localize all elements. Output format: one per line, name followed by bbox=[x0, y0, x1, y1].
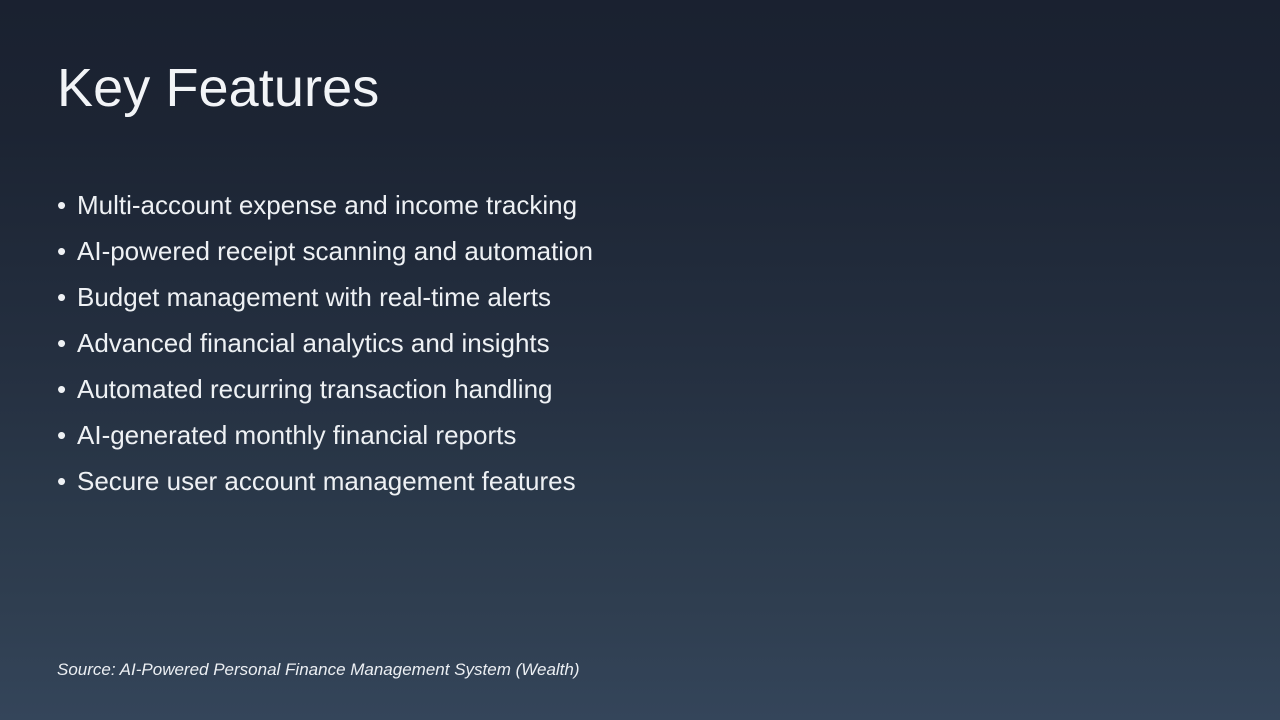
presentation-slide: Key Features • Multi-account expense and… bbox=[0, 0, 1280, 720]
page-title: Key Features bbox=[57, 57, 379, 119]
bullet-point-icon: • bbox=[57, 281, 77, 313]
list-item: • Multi-account expense and income track… bbox=[57, 189, 957, 235]
list-item: • AI-generated monthly financial reports bbox=[57, 419, 957, 465]
feature-bullet-list: • Multi-account expense and income track… bbox=[57, 189, 957, 511]
bullet-point-icon: • bbox=[57, 419, 77, 451]
list-item: • Secure user account management feature… bbox=[57, 465, 957, 511]
bullet-point-icon: • bbox=[57, 327, 77, 359]
bullet-point-icon: • bbox=[57, 465, 77, 497]
list-item: • Budget management with real-time alert… bbox=[57, 281, 957, 327]
list-item-label: Multi-account expense and income trackin… bbox=[77, 189, 577, 221]
list-item-label: AI-powered receipt scanning and automati… bbox=[77, 235, 593, 267]
list-item: • Advanced financial analytics and insig… bbox=[57, 327, 957, 373]
list-item-label: Advanced financial analytics and insight… bbox=[77, 327, 550, 359]
list-item-label: Secure user account management features bbox=[77, 465, 576, 497]
source-attribution: Source: AI-Powered Personal Finance Mana… bbox=[57, 659, 580, 681]
list-item-label: AI-generated monthly financial reports bbox=[77, 419, 516, 451]
bullet-point-icon: • bbox=[57, 373, 77, 405]
bullet-point-icon: • bbox=[57, 235, 77, 267]
list-item-label: Budget management with real-time alerts bbox=[77, 281, 551, 313]
list-item: • Automated recurring transaction handli… bbox=[57, 373, 957, 419]
list-item-label: Automated recurring transaction handling bbox=[77, 373, 553, 405]
list-item: • AI-powered receipt scanning and automa… bbox=[57, 235, 957, 281]
bullet-point-icon: • bbox=[57, 189, 77, 221]
